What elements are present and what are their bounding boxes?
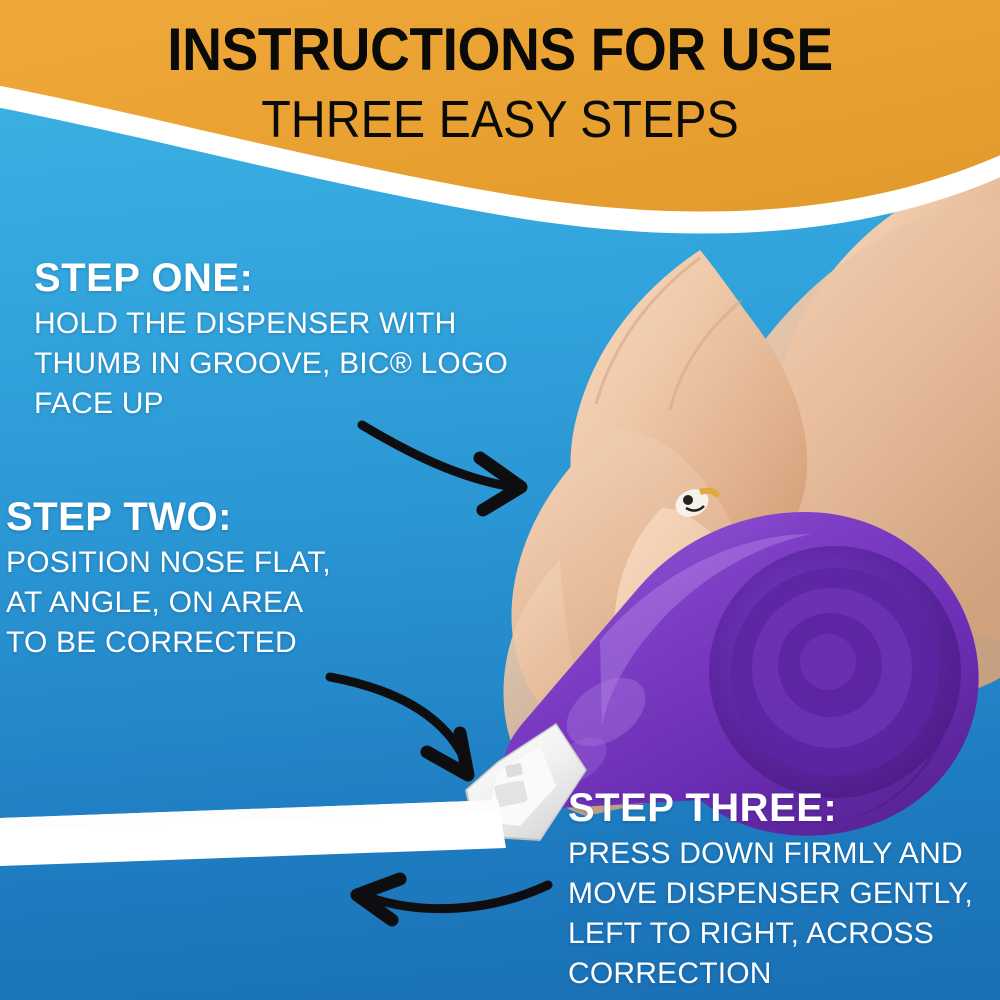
step-two-heading: STEP TWO: bbox=[6, 497, 331, 537]
arrow-step-two-icon bbox=[330, 677, 468, 775]
step-two-block: STEP TWO: POSITION NOSE FLAT, AT ANGLE, … bbox=[6, 497, 331, 663]
step-one-block: STEP ONE: HOLD THE DISPENSER WITH THUMB … bbox=[34, 258, 508, 424]
step-one-heading: STEP ONE: bbox=[34, 258, 508, 298]
arrow-step-one-icon bbox=[362, 425, 521, 510]
arrow-step-three-icon bbox=[357, 879, 548, 920]
step-one-line-1: HOLD THE DISPENSER WITH bbox=[34, 304, 508, 344]
step-two-body: POSITION NOSE FLAT, AT ANGLE, ON AREA TO… bbox=[6, 543, 331, 663]
instructions-poster: INSTRUCTIONS FOR USE THREE EASY STEPS ST… bbox=[0, 0, 1000, 1000]
step-two-line-2: AT ANGLE, ON AREA bbox=[6, 583, 331, 623]
step-three-heading: STEP THREE: bbox=[568, 788, 973, 828]
step-one-line-2: THUMB IN GROOVE, BIC® LOGO bbox=[34, 344, 508, 384]
step-three-line-1: PRESS DOWN FIRMLY AND bbox=[568, 834, 973, 874]
step-two-line-1: POSITION NOSE FLAT, bbox=[6, 543, 331, 583]
step-three-body: PRESS DOWN FIRMLY AND MOVE DISPENSER GEN… bbox=[568, 834, 973, 994]
step-three-block: STEP THREE: PRESS DOWN FIRMLY AND MOVE D… bbox=[568, 788, 973, 994]
step-one-line-3: FACE UP bbox=[34, 384, 508, 424]
step-three-line-4: CORRECTION bbox=[568, 954, 973, 994]
step-three-line-2: MOVE DISPENSER GENTLY, bbox=[568, 874, 973, 914]
step-three-line-3: LEFT TO RIGHT, ACROSS bbox=[568, 914, 973, 954]
step-two-line-3: TO BE CORRECTED bbox=[6, 623, 331, 663]
step-one-body: HOLD THE DISPENSER WITH THUMB IN GROOVE,… bbox=[34, 304, 508, 424]
